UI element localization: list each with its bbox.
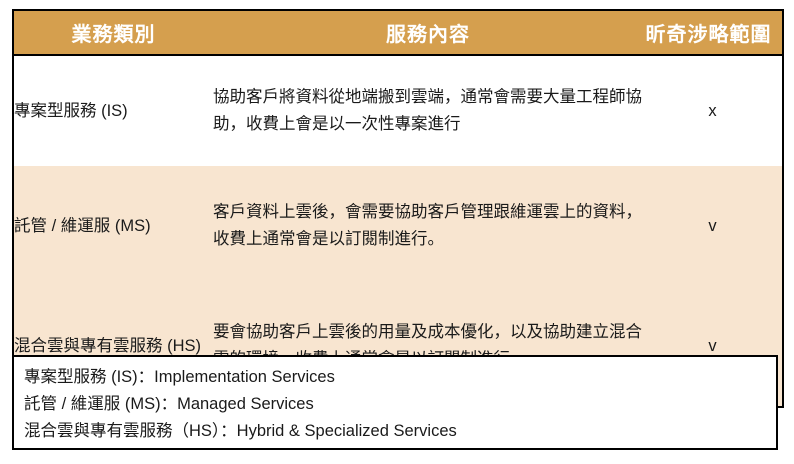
column-header-service-content: 服務內容 bbox=[213, 10, 643, 55]
table-row: 託管 / 維運服 (MS) 客戶資料上雲後，會需要協助客戶管理跟維運雲上的資料，… bbox=[13, 166, 783, 286]
cell-category: 專案型服務 (IS) bbox=[13, 55, 213, 166]
legend-line-ms: 託管 / 維運服 (MS)：Managed Services bbox=[24, 391, 776, 418]
cell-description: 客戶資料上雲後，會需要協助客戶管理跟維運雲上的資料，收費上通常會是以訂閱制進行。 bbox=[213, 166, 643, 286]
document-page: 業務類別 服務內容 昕奇涉略範圍 專案型服務 (IS) 協助客戶將資料從地端搬到… bbox=[0, 0, 794, 464]
legend-line-hs: 混合雲與專有雲服務（HS）：Hybrid & Specialized Servi… bbox=[24, 418, 776, 445]
cell-description: 協助客戶將資料從地端搬到雲端，通常會需要大量工程師協助，收費上會是以一次性專案進… bbox=[213, 55, 643, 166]
legend-box: 專案型服務 (IS)：Implementation Services 託管 / … bbox=[12, 355, 778, 450]
cell-scope: x bbox=[643, 55, 783, 166]
table-row: 專案型服務 (IS) 協助客戶將資料從地端搬到雲端，通常會需要大量工程師協助，收… bbox=[13, 55, 783, 166]
table-header: 業務類別 服務內容 昕奇涉略範圍 bbox=[13, 10, 783, 55]
column-header-scope: 昕奇涉略範圍 bbox=[643, 10, 783, 55]
column-header-category: 業務類別 bbox=[13, 10, 213, 55]
cell-category: 託管 / 維運服 (MS) bbox=[13, 166, 213, 286]
service-category-table: 業務類別 服務內容 昕奇涉略範圍 專案型服務 (IS) 協助客戶將資料從地端搬到… bbox=[12, 9, 784, 408]
legend-line-is: 專案型服務 (IS)：Implementation Services bbox=[24, 364, 776, 391]
cell-scope: v bbox=[643, 166, 783, 286]
table-header-row: 業務類別 服務內容 昕奇涉略範圍 bbox=[13, 10, 783, 55]
